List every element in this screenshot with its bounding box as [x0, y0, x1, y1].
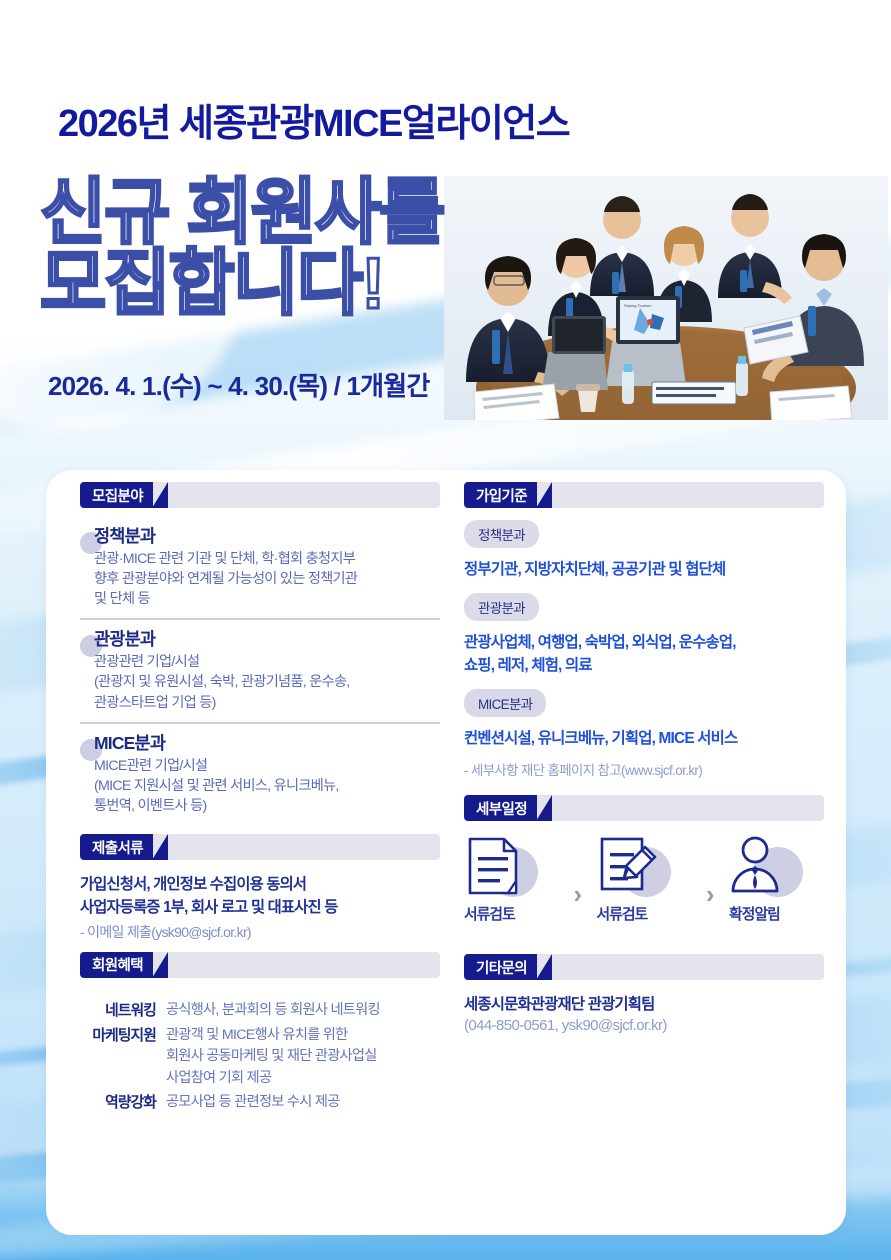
- page-headline: 신규 회원사를 모집합니다!: [40, 178, 443, 319]
- section-header-fields: 모집분야: [80, 482, 440, 508]
- benefit-value: 공모사업 등 관련정보 수시 제공: [166, 1092, 340, 1114]
- criteria-text: 컨벤션시설, 유니크베뉴, 기획업, MICE 서비스: [464, 727, 824, 750]
- section-title-inquiry: 기타문의: [464, 954, 537, 980]
- criteria-pill: 관광분과: [464, 593, 539, 621]
- person-icon: [729, 835, 805, 897]
- benefit-value: 관광객 및 MICE행사 유치를 위한 회원사 공동마케팅 및 재단 관광사업실…: [166, 1025, 377, 1089]
- documents-note: - 이메일 제출(ysk90@sjcf.or.kr): [80, 922, 440, 942]
- documents-body: 가입신청서, 개인정보 수집이용 동의서 사업자등록증 1부, 회사 로고 및 …: [80, 874, 440, 920]
- benefit-row-networking: 네트워킹 공식행사, 분과회의 등 회원사 네트워킹: [80, 1000, 440, 1022]
- section-header-documents: 제출서류: [80, 834, 440, 860]
- criteria-group-mice: MICE분과 컨벤션시설, 유니크베뉴, 기획업, MICE 서비스: [464, 677, 824, 750]
- field-body: 관광관련 기업/시설 (관광지 및 유원시설, 숙박, 관광기념품, 운수송, …: [94, 652, 440, 712]
- headline-line-2: 모집합니다!: [40, 249, 443, 320]
- field-item-policy: 정책분과 관광·MICE 관련 기관 및 단체, 학·협회 충청지부 향후 관광…: [80, 526, 440, 609]
- divider: [80, 722, 440, 724]
- section-title-fields: 모집분야: [80, 482, 153, 508]
- field-item-mice: MICE분과 MICE관련 기업/시설 (MICE 지원시설 및 관련 서비스,…: [80, 733, 440, 816]
- benefit-key: 네트워킹: [80, 1000, 166, 1022]
- chevron-right-icon: ›: [559, 835, 597, 907]
- right-column: 가입기준 정책분과 정부기관, 지방자치단체, 공공기관 및 협단체 관광분과 …: [464, 470, 824, 1034]
- field-body: 관광·MICE 관련 기관 및 단체, 학·협회 충청지부 향후 관광분야와 연…: [94, 549, 440, 609]
- section-title-criteria: 가입기준: [464, 482, 537, 508]
- criteria-pill: MICE분과: [464, 689, 546, 717]
- recruitment-period: 2026. 4. 1.(수) ~ 4. 30.(목) / 1개월간: [48, 366, 430, 403]
- document-pencil-icon: [597, 835, 673, 897]
- benefit-row-marketing: 마케팅지원 관광객 및 MICE행사 유치를 위한 회원사 공동마케팅 및 재단…: [80, 1025, 440, 1089]
- section-header-inquiry: 기타문의: [464, 954, 824, 980]
- chevron-right-icon: ›: [691, 835, 729, 907]
- benefit-key: 마케팅지원: [80, 1025, 166, 1089]
- section-header-schedule: 세부일정: [464, 795, 824, 821]
- criteria-group-policy: 정책분과 정부기관, 지방자치단체, 공공기관 및 협단체: [464, 508, 824, 581]
- section-title-benefits: 회원혜택: [80, 952, 153, 978]
- schedule-step-1: 서류검토: [464, 835, 559, 924]
- schedule-step-3: 확정알림: [729, 835, 824, 924]
- page-kicker: 2026년 세종관광MICE얼라이언스: [58, 92, 569, 147]
- schedule-step-2: 서류검토: [597, 835, 692, 924]
- left-column: 모집분야 정책분과 관광·MICE 관련 기관 및 단체, 학·협회 충청지부 …: [80, 470, 440, 1117]
- section-header-benefits: 회원혜택: [80, 952, 440, 978]
- section-header-criteria: 가입기준: [464, 482, 824, 508]
- section-title-schedule: 세부일정: [464, 795, 537, 821]
- criteria-pill: 정책분과: [464, 520, 539, 548]
- field-title: 정책분과: [94, 526, 440, 548]
- benefit-value: 공식행사, 분과회의 등 회원사 네트워킹: [166, 1000, 380, 1022]
- benefit-row-capacity: 역량강화 공모사업 등 관련정보 수시 제공: [80, 1092, 440, 1114]
- schedule-step-label: 확정알림: [729, 903, 824, 924]
- benefit-key: 역량강화: [80, 1092, 166, 1114]
- criteria-group-tourism: 관광분과 관광사업체, 여행업, 숙박업, 외식업, 운수송업, 쇼핑, 레저,…: [464, 581, 824, 677]
- schedule-step-label: 서류검토: [464, 903, 559, 924]
- contact-details: (044-850-0561, ysk90@sjcf.or.kr): [464, 1017, 824, 1034]
- field-item-tourism: 관광분과 관광관련 기업/시설 (관광지 및 유원시설, 숙박, 관광기념품, …: [80, 629, 440, 712]
- business-meeting-photo: Sejong Tourism: [444, 176, 888, 420]
- svg-text:Sejong Tourism: Sejong Tourism: [624, 303, 652, 308]
- field-title: MICE분과: [94, 733, 440, 755]
- document-icon: [464, 835, 540, 897]
- divider: [80, 618, 440, 620]
- criteria-text: 정부기관, 지방자치단체, 공공기관 및 협단체: [464, 558, 824, 581]
- headline-line-1: 신규 회원사를: [40, 173, 443, 253]
- criteria-text: 관광사업체, 여행업, 숙박업, 외식업, 운수송업, 쇼핑, 레저, 체험, …: [464, 631, 824, 677]
- field-title: 관광분과: [94, 629, 440, 651]
- schedule-step-label: 서류검토: [597, 903, 692, 924]
- criteria-note: - 세부사항 재단 홈페이지 참고(www.sjcf.or.kr): [464, 759, 824, 779]
- section-title-documents: 제출서류: [80, 834, 153, 860]
- content-card: 모집분야 정책분과 관광·MICE 관련 기관 및 단체, 학·협회 충청지부 …: [46, 470, 846, 1235]
- contact-organization: 세종시문화관광재단 관광기획팀: [464, 992, 824, 1014]
- field-body: MICE관련 기업/시설 (MICE 지원시설 및 관련 서비스, 유니크베뉴,…: [94, 756, 440, 816]
- schedule-steps: 서류검토 ›: [464, 835, 824, 924]
